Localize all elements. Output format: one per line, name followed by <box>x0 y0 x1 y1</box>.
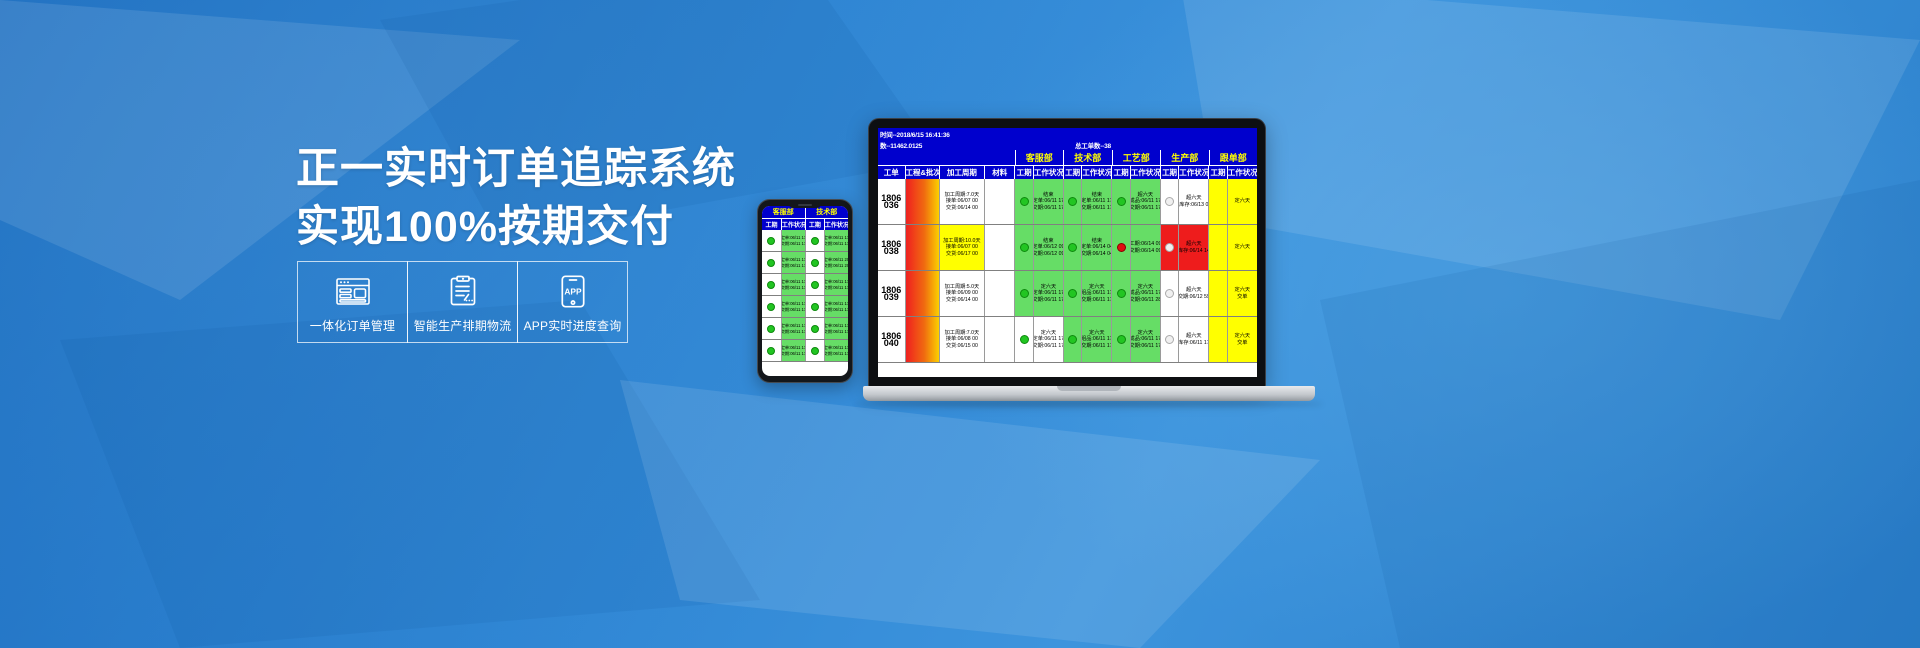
status-dot <box>767 325 775 333</box>
cell-work-status-技术部: 结束定单:06/11 17交期:06/11 17 <box>1081 179 1111 224</box>
column-生产部-工作状况: 工作状况 <box>1178 165 1208 179</box>
department-2: 工艺部 <box>1112 150 1161 165</box>
cell-work-status-生产部: 超六天库存:06/13 0 <box>1178 179 1208 224</box>
dashboard-meta-row-1: 时间--2018/6/15 16:41:36 <box>878 128 1257 139</box>
phone-cell-status-right: 定单:06/11 17交期:06/11 17 <box>824 296 848 317</box>
laptop-base <box>863 386 1315 401</box>
phone-col-1: 工作状况 <box>781 218 805 230</box>
cell-status-dot-客服部 <box>1014 317 1032 362</box>
cell-work-status-工艺部: 定六天成品:06/11 17交期:06/11 17 <box>1130 317 1160 362</box>
column-工艺部-工期: 工期 <box>1111 165 1129 179</box>
cell-status-dot-技术部 <box>1063 317 1081 362</box>
status-dot <box>1068 289 1077 298</box>
phone-cell-dot-right <box>805 318 824 339</box>
phone-cell-dot-left <box>762 230 781 251</box>
phone-cell-status-right: 定单:06/11 17交期:06/11 17 <box>824 230 848 251</box>
phone-table-row[interactable]: 定单:06/11 17交期:06/11 17定单:06/11 17交期:06/1… <box>762 340 848 362</box>
cell-work-status-工艺部: 超六天成品:06/11 17交期:06/11 17 <box>1130 179 1160 224</box>
department-1: 技术部 <box>1063 150 1112 165</box>
phone-cell-dot-right <box>805 340 824 361</box>
column-工程&批次: 工程&批次 <box>905 165 939 179</box>
phone-cell-dot-left <box>762 274 781 295</box>
headline-line-2: 实现100%按期交付 <box>296 198 696 256</box>
cell-work-status-跟单部: 定六天 <box>1227 225 1257 270</box>
feature-box-smart-scheduling[interactable]: 智能生产排期物流 <box>407 261 518 343</box>
phone-mockup: 客服部 技术部 工期 工作状况 工期 工作状况 定单:06/11 17交期:06… <box>757 199 853 383</box>
dashboard-time: 时间--2018/6/15 16:41:36 <box>880 129 1075 139</box>
table-row[interactable]: 1806036加工周期:7.0天接单:06/07 00交货:06/14 00结束… <box>878 179 1257 225</box>
cell-status-dot-客服部 <box>1014 225 1032 270</box>
phone-cell-dot-right <box>805 274 824 295</box>
dashboard-table-body: 1806036加工周期:7.0天接单:06/07 00交货:06/14 00结束… <box>878 179 1257 363</box>
column-技术部-工期: 工期 <box>1063 165 1081 179</box>
phone-cell-status-left: 定单:06/11 17交期:06/11 17 <box>781 318 805 339</box>
cell-cycle: 加工周期:5.0天接单:06/09 00交货:06/14 00 <box>939 271 984 316</box>
status-dot <box>811 259 819 267</box>
laptop-shadow <box>855 401 1323 407</box>
polygon-decor-4 <box>1320 180 1920 648</box>
phone-table-row[interactable]: 定单:06/11 17交期:06/11 17定单:06/11 20交期:06/1… <box>762 252 848 274</box>
polygon-decor-6 <box>620 380 1320 648</box>
table-row[interactable]: 1806040加工周期:7.0天接单:06/08 00交货:06/15 00定六… <box>878 317 1257 363</box>
cell-status-dot-技术部 <box>1063 179 1081 224</box>
phone-column-bar: 工期 工作状况 工期 工作状况 <box>762 218 848 230</box>
cell-status-dot-生产部 <box>1160 271 1178 316</box>
department-3: 生产部 <box>1160 150 1209 165</box>
order-management-icon <box>336 274 370 308</box>
status-dot <box>1165 197 1174 206</box>
cell-status-dot-跟单部 <box>1208 271 1226 316</box>
dashboard-total: 总工单数--38 <box>1075 140 1255 150</box>
phone-cell-status-right: 定单:06/11 17交期:06/11 17 <box>824 318 848 339</box>
hero-text-block: 正一实时订单追踪系统 实现100%按期交付 <box>296 140 696 256</box>
status-dot <box>1117 197 1126 206</box>
cell-status-dot-技术部 <box>1063 225 1081 270</box>
table-row[interactable]: 1806039加工周期:5.0天接单:06/09 00交货:06/14 00定六… <box>878 271 1257 317</box>
cell-project-batch <box>905 271 939 316</box>
phone-notch <box>788 202 822 208</box>
phone-cell-dot-right <box>805 252 824 273</box>
column-工艺部-工作状况: 工作状况 <box>1130 165 1160 179</box>
feature-label: 一体化订单管理 <box>310 317 395 334</box>
cell-status-dot-跟单部 <box>1208 225 1226 270</box>
status-dot <box>1068 197 1077 206</box>
cell-material <box>984 225 1014 270</box>
phone-dashboard: 客服部 技术部 工期 工作状况 工期 工作状况 定单:06/11 17交期:06… <box>762 206 848 376</box>
cell-work-status-客服部: 结束定单:06/11 17交期:06/11 17 <box>1033 179 1063 224</box>
status-dot <box>811 281 819 289</box>
cell-work-status-生产部: 超六天库存:06/14 14 <box>1178 225 1208 270</box>
table-row[interactable]: 1806038加工周期:10.0天接单:06/07 00交货:06/17 00结… <box>878 225 1257 271</box>
cell-status-dot-客服部 <box>1014 271 1032 316</box>
department-0: 客服部 <box>1015 150 1064 165</box>
phone-cell-dot-left <box>762 252 781 273</box>
cell-project-batch <box>905 317 939 362</box>
laptop-mockup: 时间--2018/6/15 16:41:36 数--11462.0125 总工单… <box>863 118 1323 418</box>
cell-status-dot-工艺部 <box>1111 271 1129 316</box>
column-bar: 工单工程&批次加工周期材料工期工作状况工期工作状况工期工作状况工期工作状况工期工… <box>878 165 1257 179</box>
status-dot <box>1020 289 1029 298</box>
cell-project-batch <box>905 225 939 270</box>
phone-cell-status-left: 定单:06/11 17交期:06/11 17 <box>781 274 805 295</box>
status-dot <box>767 281 775 289</box>
column-技术部-工作状况: 工作状况 <box>1081 165 1111 179</box>
cell-work-order: 1806040 <box>878 317 905 362</box>
feature-box-order-management[interactable]: 一体化订单管理 <box>297 261 408 343</box>
cell-work-status-跟单部: 定六天交单 <box>1227 271 1257 316</box>
app-badge-text: APP <box>564 286 582 296</box>
phone-cell-dot-right <box>805 230 824 251</box>
status-dot <box>1020 335 1029 344</box>
phone-col-2: 工期 <box>805 218 824 230</box>
cell-status-dot-生产部 <box>1160 179 1178 224</box>
cell-work-status-生产部: 超六天库存:06/11 17 <box>1178 317 1208 362</box>
department-bar-spacer <box>878 150 1015 165</box>
status-dot <box>1068 243 1077 252</box>
feature-label: APP实时进度查询 <box>524 317 622 334</box>
status-dot <box>767 303 775 311</box>
headline-line-1: 正一实时订单追踪系统 <box>296 140 696 198</box>
phone-col-0: 工期 <box>762 218 781 230</box>
cell-work-status-工艺部: 工期:06/14 09交期:06/14 09 <box>1130 225 1160 270</box>
dashboard-count: 数--11462.0125 <box>880 140 1075 150</box>
cell-project-batch <box>905 179 939 224</box>
status-dot <box>767 237 775 245</box>
dashboard-meta-row-2: 数--11462.0125 总工单数--38 <box>878 139 1257 150</box>
phone-cell-status-left: 定单:06/11 17交期:06/11 17 <box>781 296 805 317</box>
phone-cell-status-right: 定单:06/11 17交期:06/11 17 <box>824 340 848 361</box>
status-dot <box>811 303 819 311</box>
feature-box-group: 一体化订单管理 智能生产排期物流 <box>297 261 627 343</box>
cell-work-status-技术部: 定六天组品:06/11 17交期:06/11 17 <box>1081 271 1111 316</box>
cell-status-dot-跟单部 <box>1208 317 1226 362</box>
cell-status-dot-客服部 <box>1014 179 1032 224</box>
phone-cell-dot-left <box>762 318 781 339</box>
column-跟单部-工作状况: 工作状况 <box>1227 165 1257 179</box>
feature-box-app-tracking[interactable]: APP APP实时进度查询 <box>517 261 628 343</box>
department-bar: 客服部技术部工艺部生产部跟单部 <box>878 150 1257 165</box>
cell-material <box>984 317 1014 362</box>
cell-status-dot-工艺部 <box>1111 317 1129 362</box>
column-客服部-工作状况: 工作状况 <box>1033 165 1063 179</box>
status-dot <box>1117 335 1126 344</box>
status-dot <box>1165 335 1174 344</box>
status-dot <box>1165 289 1174 298</box>
cell-work-status-客服部: 定六天定单:06/11 17交期:06/11 17 <box>1033 317 1063 362</box>
dashboard-header: 时间--2018/6/15 16:41:36 数--11462.0125 总工单… <box>878 128 1257 179</box>
cell-work-status-工艺部: 定六天成品:06/11 17交期:06/11 28 <box>1130 271 1160 316</box>
cell-status-dot-工艺部 <box>1111 225 1129 270</box>
cell-material <box>984 271 1014 316</box>
column-工单: 工单 <box>878 165 905 179</box>
phone-table-row[interactable]: 定单:06/11 17交期:06/11 17定单:06/11 17交期:06/1… <box>762 274 848 296</box>
cell-work-status-客服部: 结束定单:06/12 09交期:06/12 09 <box>1033 225 1063 270</box>
cell-status-dot-工艺部 <box>1111 179 1129 224</box>
status-dot <box>811 237 819 245</box>
phone-cell-status-right: 定单:06/11 17交期:06/11 17 <box>824 274 848 295</box>
cell-work-status-跟单部: 定六天 <box>1227 179 1257 224</box>
phone-table-row[interactable]: 定单:06/11 17交期:06/11 17定单:06/11 17交期:06/1… <box>762 230 848 252</box>
column-生产部-工期: 工期 <box>1160 165 1178 179</box>
department-4: 跟单部 <box>1209 150 1258 165</box>
cell-status-dot-跟单部 <box>1208 179 1226 224</box>
phone-cell-dot-left <box>762 340 781 361</box>
clipboard-schedule-icon <box>449 274 477 308</box>
status-dot <box>1117 243 1126 252</box>
feature-label: 智能生产排期物流 <box>414 317 512 334</box>
phone-table-row[interactable]: 定单:06/11 17交期:06/11 17定单:06/11 17交期:06/1… <box>762 296 848 318</box>
phone-table-body: 定单:06/11 17交期:06/11 17定单:06/11 17交期:06/1… <box>762 230 848 362</box>
cell-work-status-客服部: 定六天定单:06/11 17交期:06/11 17 <box>1033 271 1063 316</box>
column-材料: 材料 <box>984 165 1014 179</box>
status-dot <box>767 347 775 355</box>
phone-table-row[interactable]: 定单:06/11 17交期:06/11 17定单:06/11 17交期:06/1… <box>762 318 848 340</box>
phone-cell-status-left: 定单:06/11 17交期:06/11 17 <box>781 230 805 251</box>
status-dot <box>1020 243 1029 252</box>
cell-material <box>984 179 1014 224</box>
cell-work-status-跟单部: 定六天交单 <box>1227 317 1257 362</box>
cell-status-dot-生产部 <box>1160 317 1178 362</box>
cell-work-order: 1806036 <box>878 179 905 224</box>
phone-screen[interactable]: 客服部 技术部 工期 工作状况 工期 工作状况 定单:06/11 17交期:06… <box>762 206 848 376</box>
cell-status-dot-生产部 <box>1160 225 1178 270</box>
laptop-lid: 时间--2018/6/15 16:41:36 数--11462.0125 总工单… <box>868 118 1266 388</box>
status-dot <box>811 347 819 355</box>
cell-work-status-生产部: 超六天交期:06/12 59 <box>1178 271 1208 316</box>
cell-work-order: 1806039 <box>878 271 905 316</box>
phone-cell-status-left: 定单:06/11 17交期:06/11 17 <box>781 252 805 273</box>
cell-work-status-技术部: 结束定单:06/14 04交期:06/14 04 <box>1081 225 1111 270</box>
phone-dashboard-header: 客服部 技术部 工期 工作状况 工期 工作状况 <box>762 206 848 230</box>
status-dot <box>811 325 819 333</box>
status-dot <box>1165 243 1174 252</box>
status-dot <box>767 259 775 267</box>
cell-cycle: 加工周期:7.0天接单:06/08 00交货:06/15 00 <box>939 317 984 362</box>
phone-cell-dot-right <box>805 296 824 317</box>
cell-cycle: 加工周期:7.0天接单:06/07 00交货:06/14 00 <box>939 179 984 224</box>
cell-work-status-技术部: 定六天组品:06/11 17交期:06/11 17 <box>1081 317 1111 362</box>
column-客服部-工期: 工期 <box>1014 165 1032 179</box>
cell-cycle: 加工周期:10.0天接单:06/07 00交货:06/17 00 <box>939 225 984 270</box>
phone-cell-status-right: 定单:06/11 20交期:06/11 20 <box>824 252 848 273</box>
phone-cell-dot-left <box>762 296 781 317</box>
column-跟单部-工期: 工期 <box>1208 165 1226 179</box>
status-dot <box>1117 289 1126 298</box>
phone-body: 客服部 技术部 工期 工作状况 工期 工作状况 定单:06/11 17交期:06… <box>757 199 853 383</box>
status-dot <box>1020 197 1029 206</box>
status-dot <box>1068 335 1077 344</box>
mobile-app-icon: APP <box>561 274 585 308</box>
hero-banner: 正一实时订单追踪系统 实现100%按期交付 一体化订单管理 <box>0 0 1920 648</box>
phone-col-3: 工作状况 <box>824 218 848 230</box>
phone-cell-status-left: 定单:06/11 17交期:06/11 17 <box>781 340 805 361</box>
cell-status-dot-技术部 <box>1063 271 1081 316</box>
column-加工周期: 加工周期 <box>939 165 984 179</box>
laptop-screen[interactable]: 时间--2018/6/15 16:41:36 数--11462.0125 总工单… <box>878 128 1257 377</box>
cell-work-order: 1806038 <box>878 225 905 270</box>
dashboard: 时间--2018/6/15 16:41:36 数--11462.0125 总工单… <box>878 128 1257 377</box>
